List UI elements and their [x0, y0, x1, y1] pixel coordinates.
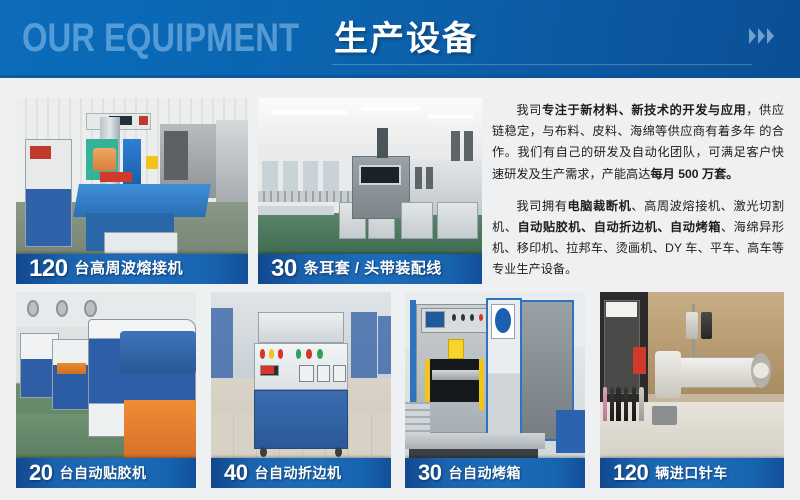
gallery-item-auto-oven[interactable]: 30 台自动烤箱 [405, 292, 585, 488]
gallery-item-imported-sewing-machine[interactable]: 120 辆进口针车 [600, 292, 784, 488]
equipment-page: OUR EQUIPMENT 生产设备 120 台高周波熔接 [0, 0, 800, 500]
double-chevron-right-icon [751, 28, 778, 45]
caption-bar: 20 台自动贴胶机 [16, 458, 196, 488]
intro-text-panel: 我司专注于新材料、新技术的开发与应用，供应链稳定，与布料、皮料、海绵等供应商有着… [492, 98, 788, 284]
caption-label: 台自动折边机 [254, 465, 341, 481]
caption-count: 40 [224, 461, 247, 485]
caption-count: 30 [271, 257, 297, 281]
caption-bar: 30 条耳套 / 头带装配线 [258, 254, 482, 284]
caption-bar: 40 台自动折边机 [211, 458, 391, 488]
gallery-item-auto-taping-machine[interactable]: 20 台自动贴胶机 [16, 292, 196, 488]
intro-paragraph-2: 我司拥有电脑裁断机、高周波熔接机、激光切割机、自动贴胶机、自动折边机、自动烤箱、… [492, 196, 784, 281]
caption-label: 台高周波熔接机 [75, 261, 184, 277]
page-title: 生产设备 [334, 16, 478, 62]
caption-count: 120 [29, 257, 68, 281]
caption-bar: 30 台自动烤箱 [405, 458, 585, 488]
gallery-item-hf-welding-machine[interactable]: 120 台高周波熔接机 [16, 98, 248, 284]
page-header: OUR EQUIPMENT 生产设备 [0, 0, 800, 78]
intro-paragraph-1: 我司专注于新材料、新技术的开发与应用，供应链稳定，与布料、皮料、海绵等供应商有着… [492, 100, 784, 185]
caption-label: 台自动贴胶机 [59, 465, 146, 481]
caption-count: 30 [418, 461, 441, 485]
gallery-item-auto-edge-folding-machine[interactable]: 40 台自动折边机 [211, 292, 391, 488]
caption-label: 条耳套 / 头带装配线 [304, 261, 442, 277]
gallery-item-earloop-headband-assembly-line[interactable]: 30 条耳套 / 头带装配线 [258, 98, 482, 284]
title-underline [332, 64, 752, 65]
caption-count: 120 [613, 461, 648, 485]
caption-label: 辆进口针车 [655, 465, 728, 481]
page-title-english: OUR EQUIPMENT [22, 14, 299, 62]
gallery-grid: 120 台高周波熔接机 [0, 78, 800, 500]
caption-bar: 120 辆进口针车 [600, 458, 784, 488]
caption-label: 台自动烤箱 [448, 465, 521, 481]
caption-bar: 120 台高周波熔接机 [16, 254, 248, 284]
caption-count: 20 [29, 461, 52, 485]
